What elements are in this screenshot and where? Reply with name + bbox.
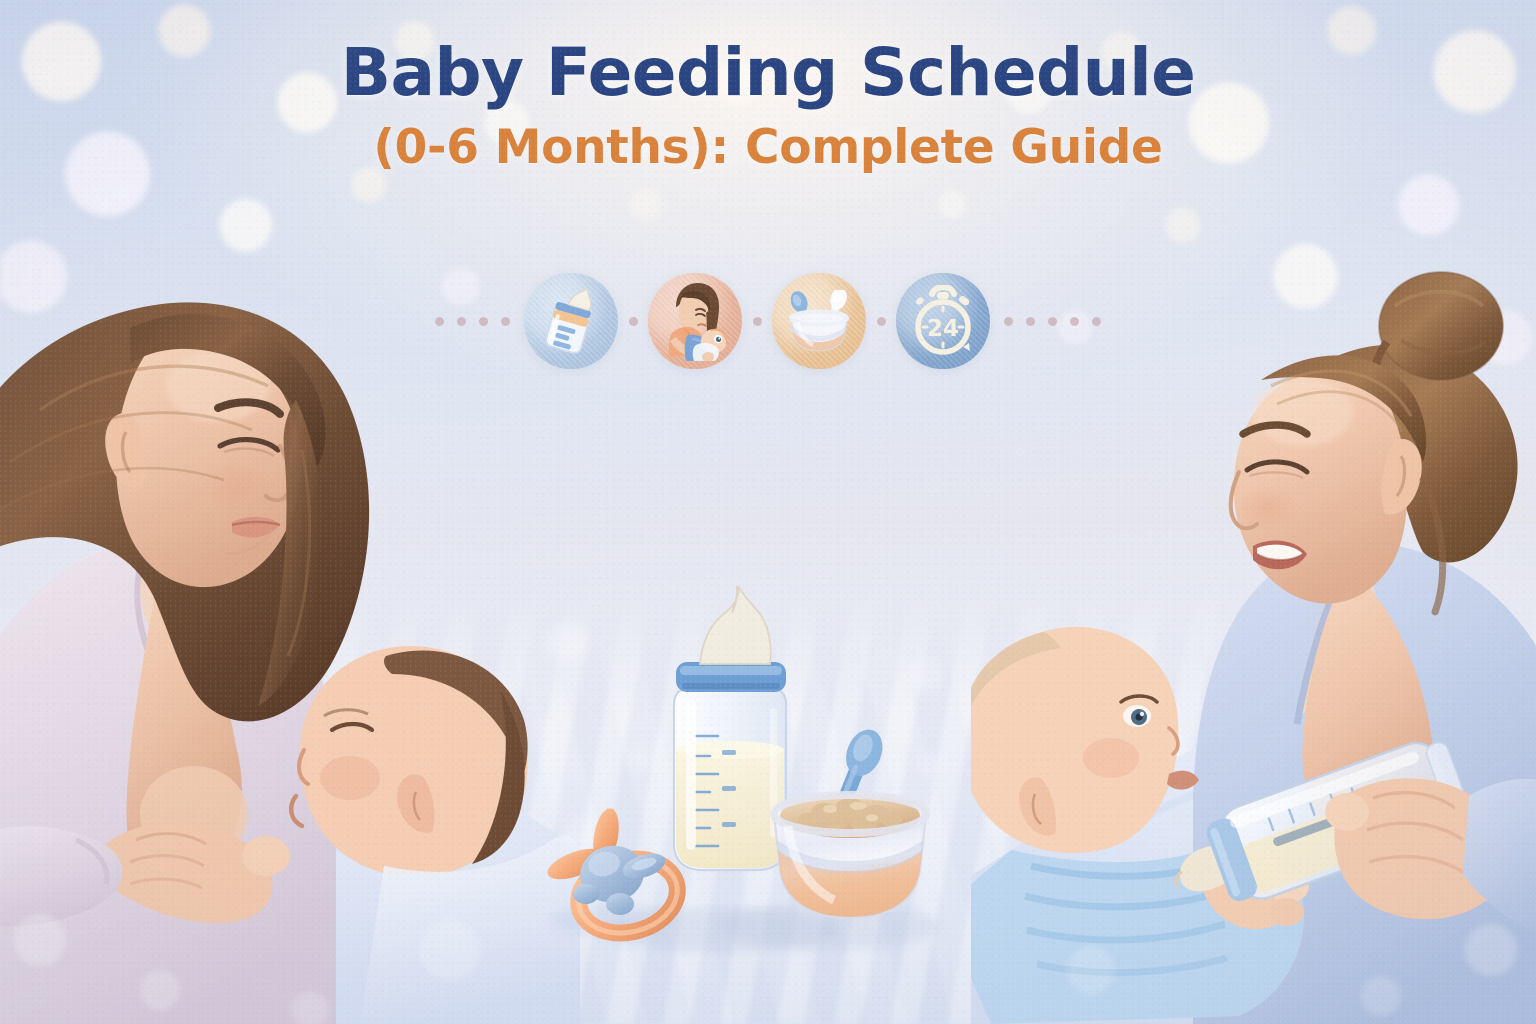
dot (877, 317, 886, 326)
baby-bottle-glyph (542, 288, 600, 354)
center-cereal-bowl (774, 724, 926, 918)
breastfeeding-icon[interactable] (648, 273, 742, 369)
breastfeeding-glyph (662, 281, 728, 361)
separator-dot-3 (866, 317, 896, 326)
dot (1092, 317, 1101, 326)
cereal-bowl-glyph (783, 290, 855, 352)
trailing-dots (990, 317, 1113, 326)
dot (1070, 317, 1079, 326)
bedding-backdrop (0, 524, 1536, 1024)
dot (1048, 317, 1057, 326)
hero-banner: Baby Feeding Schedule (0-6 Months): Comp… (0, 0, 1536, 1024)
header-block: Baby Feeding Schedule (0-6 Months): Comp… (0, 38, 1536, 174)
stopwatch-24-glyph: 24 (908, 285, 978, 357)
dot (753, 317, 762, 326)
baby-right (971, 627, 1309, 1024)
mother-right-hand (1325, 778, 1509, 919)
feeding-bottle-right (1158, 732, 1474, 925)
feeding-icon-strip: 24 (0, 273, 1536, 369)
dot (629, 317, 638, 326)
baby-bottle-icon[interactable] (524, 273, 618, 369)
dot (1004, 317, 1013, 326)
dot (501, 317, 510, 326)
dot (457, 317, 466, 326)
bedding-fold-texture (0, 594, 1536, 1024)
solid-food-bowl-icon[interactable] (772, 273, 866, 369)
dot (479, 317, 488, 326)
dot (435, 317, 444, 326)
mother-left-hand (98, 822, 290, 924)
dot (1026, 317, 1035, 326)
separator-dot-1 (618, 317, 648, 326)
page-subtitle: (0-6 Months): Complete Guide (0, 122, 1536, 174)
page-title: Baby Feeding Schedule (0, 38, 1536, 108)
separator-dot-2 (742, 317, 772, 326)
leading-dots (423, 317, 524, 326)
twenty-four-hour-clock-icon[interactable]: 24 (896, 273, 990, 369)
feeding-still-life (520, 578, 960, 978)
center-baby-bottle (674, 586, 786, 870)
still-life-illustration (520, 578, 960, 978)
clock-value: 24 (927, 316, 959, 342)
bunny-rattle-toy (544, 806, 686, 943)
baby-left (291, 646, 580, 1024)
